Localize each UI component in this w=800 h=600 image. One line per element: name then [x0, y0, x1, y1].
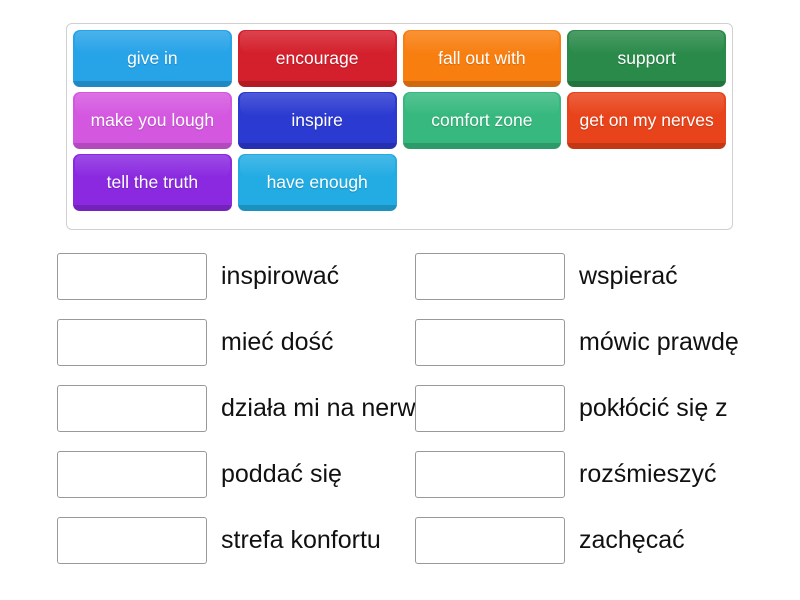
answer-row: wspierać	[415, 243, 800, 309]
answer-label: strefa konfortu	[221, 526, 381, 554]
answer-row: mówic prawdę	[415, 309, 800, 375]
drop-box-strefa-konfortu[interactable]	[57, 517, 207, 564]
answer-label: rozśmieszyć	[579, 460, 717, 488]
draggable-tile-make-you-lough[interactable]: make you lough	[73, 92, 232, 149]
draggable-tile-tell-the-truth[interactable]: tell the truth	[73, 154, 232, 211]
answer-label: inspirować	[221, 262, 339, 290]
answer-row: mieć dość	[57, 309, 447, 375]
drop-box-poddac-sie[interactable]	[57, 451, 207, 498]
tile-slot-empty	[403, 154, 562, 211]
drop-box-miec-dosc[interactable]	[57, 319, 207, 366]
answer-row: pokłócić się z	[415, 375, 800, 441]
drop-box-poklocic-sie-z[interactable]	[415, 385, 565, 432]
answer-row: poddać się	[57, 441, 447, 507]
drop-box-zachecac[interactable]	[415, 517, 565, 564]
tile-label: encourage	[276, 48, 359, 69]
tile-label: have enough	[267, 172, 368, 193]
draggable-tile-encourage[interactable]: encourage	[238, 30, 397, 87]
answer-column-left: inspirować mieć dość działa mi na nerwy …	[57, 243, 447, 573]
answer-label: mówic prawdę	[579, 328, 739, 356]
draggable-tile-fall-out-with[interactable]: fall out with	[403, 30, 562, 87]
tile-row: give in encourage fall out with support	[73, 30, 726, 87]
answer-label: wspierać	[579, 262, 678, 290]
answer-label: zachęcać	[579, 526, 685, 554]
draggable-tile-inspire[interactable]: inspire	[238, 92, 397, 149]
tile-slot-empty	[567, 154, 726, 211]
tile-label: fall out with	[438, 48, 526, 69]
tile-label: give in	[127, 48, 178, 69]
answer-label: poddać się	[221, 460, 342, 488]
draggable-tile-get-on-my-nerves[interactable]: get on my nerves	[567, 92, 726, 149]
tile-label: inspire	[291, 110, 343, 131]
tile-row: tell the truth have enough	[73, 154, 726, 211]
tile-bank: give in encourage fall out with support …	[66, 23, 733, 230]
tile-row: make you lough inspire comfort zone get …	[73, 92, 726, 149]
draggable-tile-comfort-zone[interactable]: comfort zone	[403, 92, 562, 149]
answer-row: inspirować	[57, 243, 447, 309]
drop-box-wspierac[interactable]	[415, 253, 565, 300]
draggable-tile-support[interactable]: support	[567, 30, 726, 87]
answer-column-right: wspierać mówic prawdę pokłócić się z roz…	[415, 243, 800, 573]
tile-label: support	[617, 48, 675, 69]
tile-label: make you lough	[91, 110, 215, 131]
drop-box-inspirowac[interactable]	[57, 253, 207, 300]
answer-area: inspirować mieć dość działa mi na nerwy …	[0, 243, 800, 588]
tile-label: tell the truth	[107, 172, 198, 193]
answer-row: zachęcać	[415, 507, 800, 573]
drop-box-mowic-prawde[interactable]	[415, 319, 565, 366]
answer-row: rozśmieszyć	[415, 441, 800, 507]
tile-label: get on my nerves	[580, 110, 714, 131]
answer-row: działa mi na nerwy	[57, 375, 447, 441]
answer-row: strefa konfortu	[57, 507, 447, 573]
draggable-tile-have-enough[interactable]: have enough	[238, 154, 397, 211]
tile-label: comfort zone	[431, 110, 532, 131]
answer-label: pokłócić się z	[579, 394, 728, 422]
answer-label: mieć dość	[221, 328, 334, 356]
draggable-tile-give-in[interactable]: give in	[73, 30, 232, 87]
answer-label: działa mi na nerwy	[221, 394, 428, 422]
drop-box-rozsmieszyc[interactable]	[415, 451, 565, 498]
drop-box-dziala-mi-na-nerwy[interactable]	[57, 385, 207, 432]
